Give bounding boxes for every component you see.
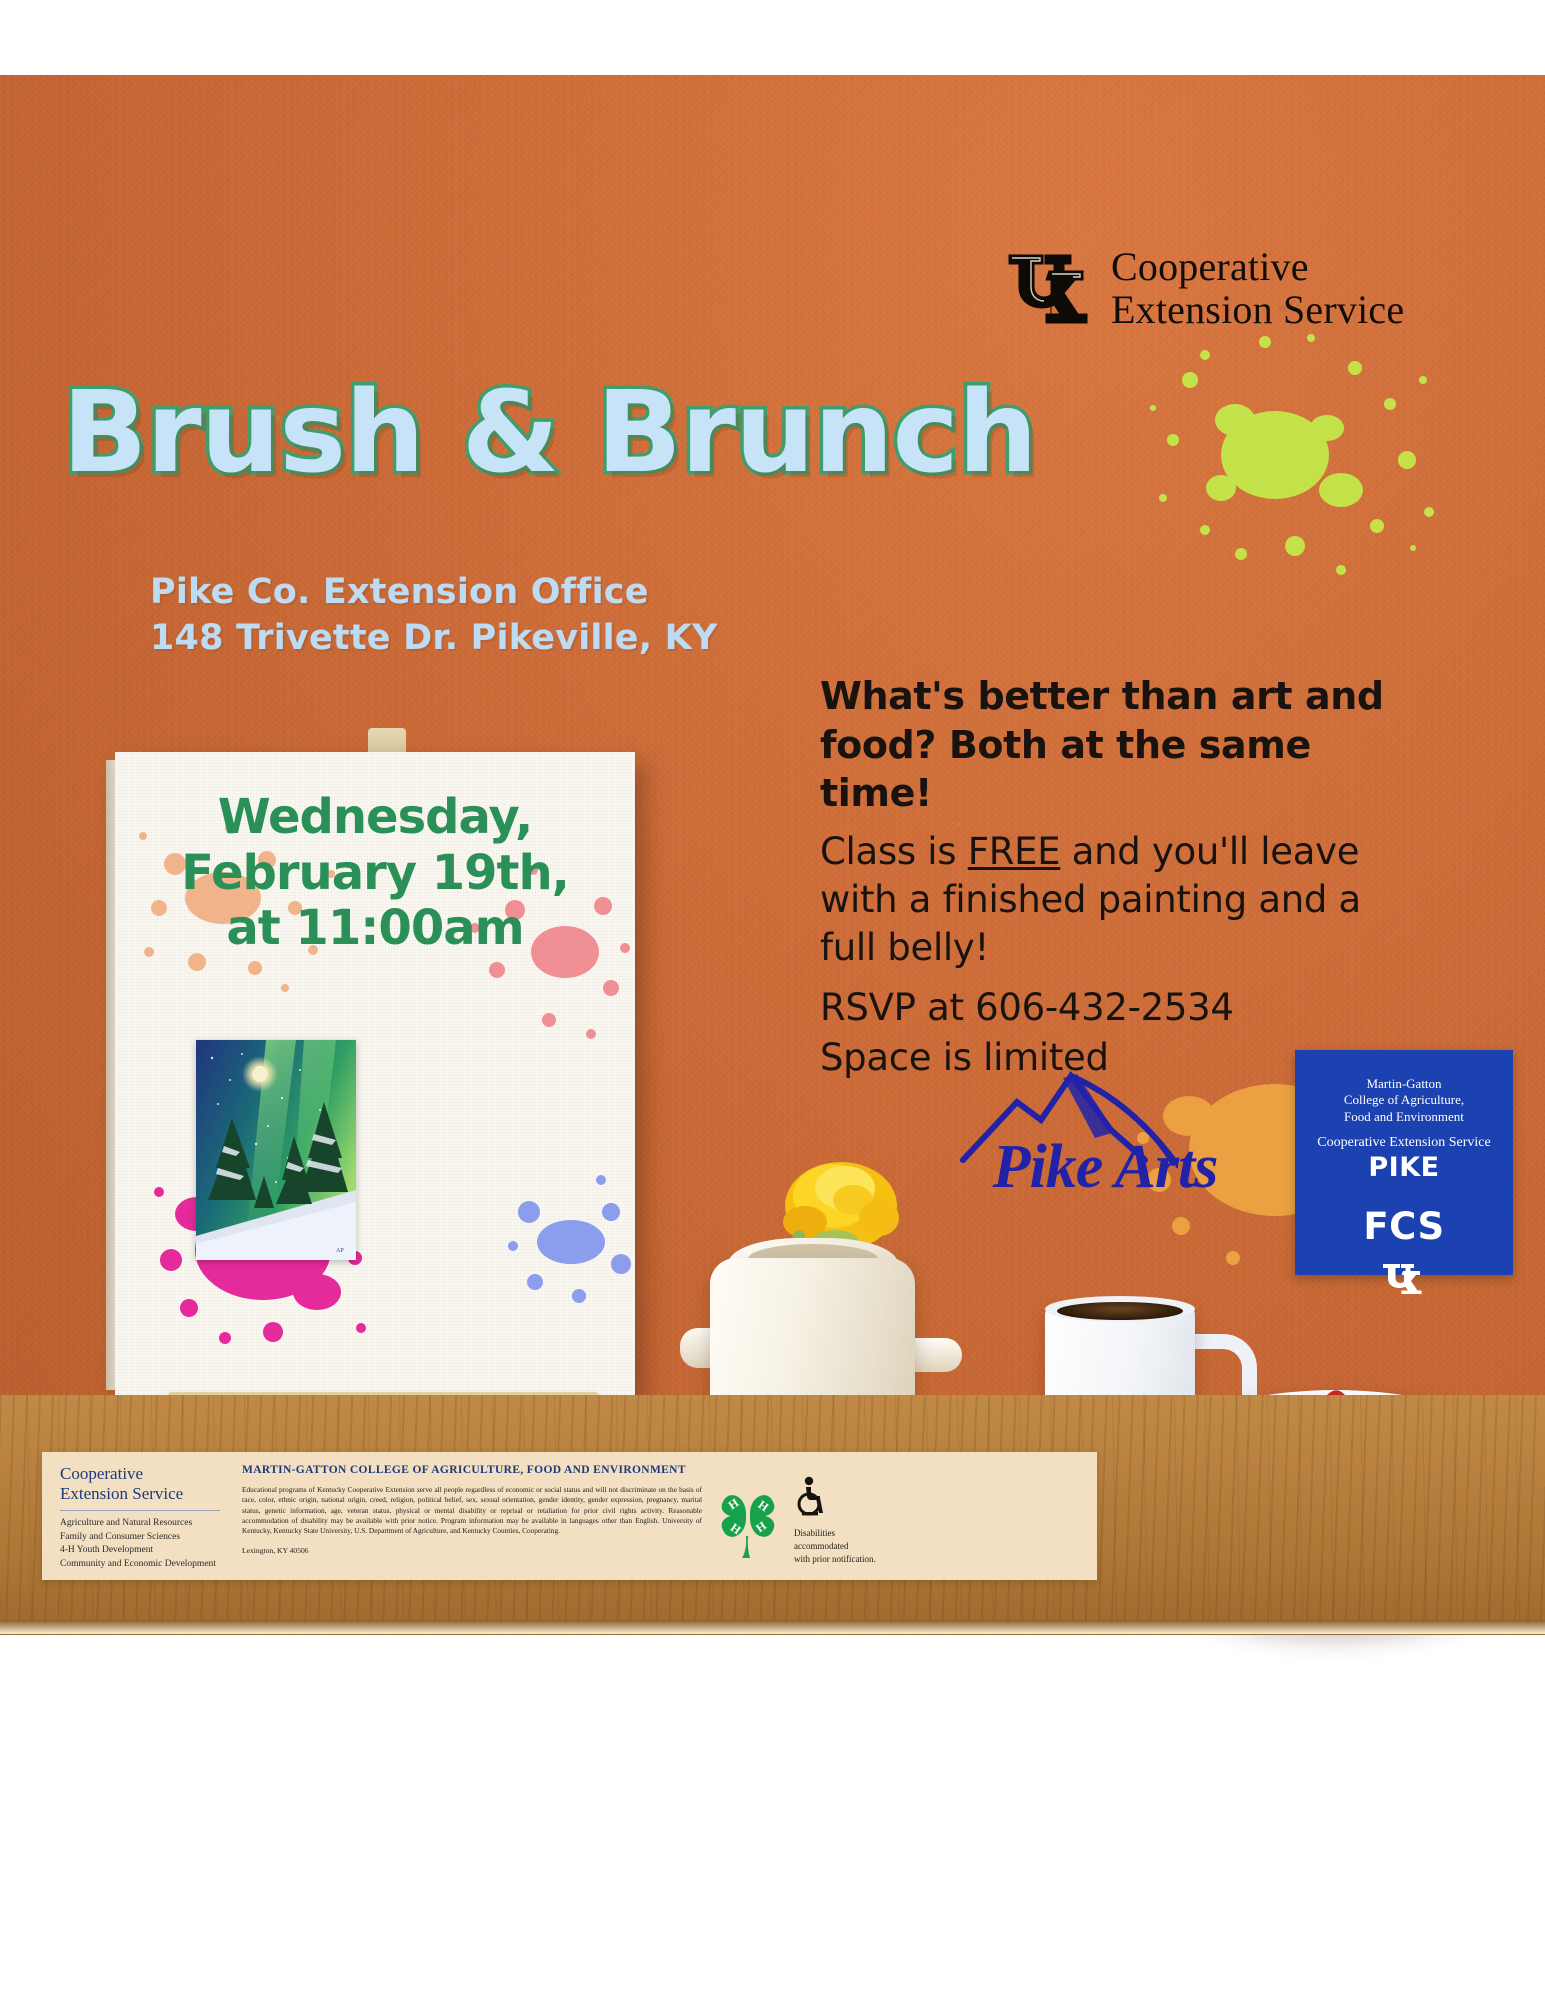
painted-canvas: Wednesday, February 19th, at 11:00am xyxy=(115,752,635,1397)
accessibility-text: Disabilities accommodated with prior not… xyxy=(794,1527,904,1566)
event-free-text: Class is FREE and you'll leave with a fi… xyxy=(820,828,1420,972)
badge-pike: PIKE xyxy=(1295,1152,1513,1183)
badge-line1: Martin-Gatton xyxy=(1295,1076,1513,1092)
footer-main-block: MARTIN-GATTON COLLEGE OF AGRICULTURE, FO… xyxy=(242,1464,702,1555)
event-description: What's better than art and food? Both at… xyxy=(820,672,1420,1094)
venue-address: Pike Co. Extension Office 148 Trivette D… xyxy=(150,570,718,661)
venue-line2: 148 Trivette Dr. Pikeville, KY xyxy=(150,616,718,662)
pike-fcs-badge: Martin-Gatton College of Agriculture, Fo… xyxy=(1295,1050,1513,1275)
footer-address: Lexington, KY 40506 xyxy=(242,1546,702,1555)
table-front-edge xyxy=(0,1620,1545,1634)
four-h-clover-svg: H H H H xyxy=(714,1480,782,1558)
footer-ces-title: Cooperative Extension Service xyxy=(60,1464,220,1503)
footer-left-block: Cooperative Extension Service Agricultur… xyxy=(60,1464,220,1571)
badge-line4: Cooperative Extension Service xyxy=(1295,1135,1513,1151)
footer-heading: MARTIN-GATTON COLLEGE OF AGRICULTURE, FO… xyxy=(242,1464,702,1476)
event-date-text: Wednesday, February 19th, at 11:00am xyxy=(115,790,635,957)
footer-divider xyxy=(60,1510,220,1511)
aurora-painting-svg: AP xyxy=(196,1040,356,1260)
header-org-line2: Extension Service xyxy=(1111,288,1404,331)
blue-splatter-icon xyxy=(505,1172,635,1332)
rsvp-line: RSVP at 606-432-2534 xyxy=(820,984,1420,1032)
four-h-clover-icon: H H H H xyxy=(714,1480,782,1558)
footer-services-list: Agriculture and Natural Resources Family… xyxy=(60,1517,220,1571)
painting-signature: AP xyxy=(336,1248,344,1254)
header-org-line1: Cooperative xyxy=(1111,245,1404,288)
pike-arts-logo: Pike Arts xyxy=(945,1080,1265,1220)
badge-uk-icon xyxy=(1295,1262,1513,1294)
free-pre: Class is xyxy=(820,830,968,873)
pike-arts-label: Pike Arts xyxy=(945,1132,1265,1203)
date-line2: February 19th, xyxy=(115,846,635,902)
badge-line3: Food and Environment xyxy=(1295,1109,1513,1125)
uk-wordmark-small-icon xyxy=(1381,1262,1427,1294)
wheelchair-icon xyxy=(794,1476,828,1516)
lime-splatter-svg xyxy=(1145,320,1445,610)
accessibility-block: Disabilities accommodated with prior not… xyxy=(794,1476,904,1566)
aurora-painting-thumbnail: AP xyxy=(196,1040,356,1260)
lime-paint-splatter xyxy=(1145,320,1445,610)
footer-disclaimer-text: Educational programs of Kentucky Coopera… xyxy=(242,1485,702,1537)
footer-ces-line2: Extension Service xyxy=(60,1484,220,1504)
footer-disclaimer-bar: Cooperative Extension Service Agricultur… xyxy=(42,1452,1097,1580)
page-title: Brush & Brunch xyxy=(62,368,1037,498)
flyer-poster: Cooperative Extension Service Brush & Br… xyxy=(0,0,1545,2000)
badge-fcs: FCS xyxy=(1295,1205,1513,1248)
footer-ces-line1: Cooperative xyxy=(60,1464,220,1484)
event-headline: What's better than art and food? Both at… xyxy=(820,672,1420,818)
free-word: FREE xyxy=(968,830,1061,873)
header-org-text: Cooperative Extension Service xyxy=(1111,245,1404,331)
date-line3: at 11:00am xyxy=(115,901,635,957)
coffee-liquid xyxy=(1057,1302,1183,1320)
badge-college-lines: Martin-Gatton College of Agriculture, Fo… xyxy=(1295,1050,1513,1125)
date-line1: Wednesday, xyxy=(115,790,635,846)
venue-line1: Pike Co. Extension Office xyxy=(150,570,718,616)
uk-cooperative-extension-header: Cooperative Extension Service xyxy=(1005,245,1404,331)
badge-line2: College of Agriculture, xyxy=(1295,1092,1513,1108)
uk-wordmark-icon xyxy=(1005,249,1097,327)
